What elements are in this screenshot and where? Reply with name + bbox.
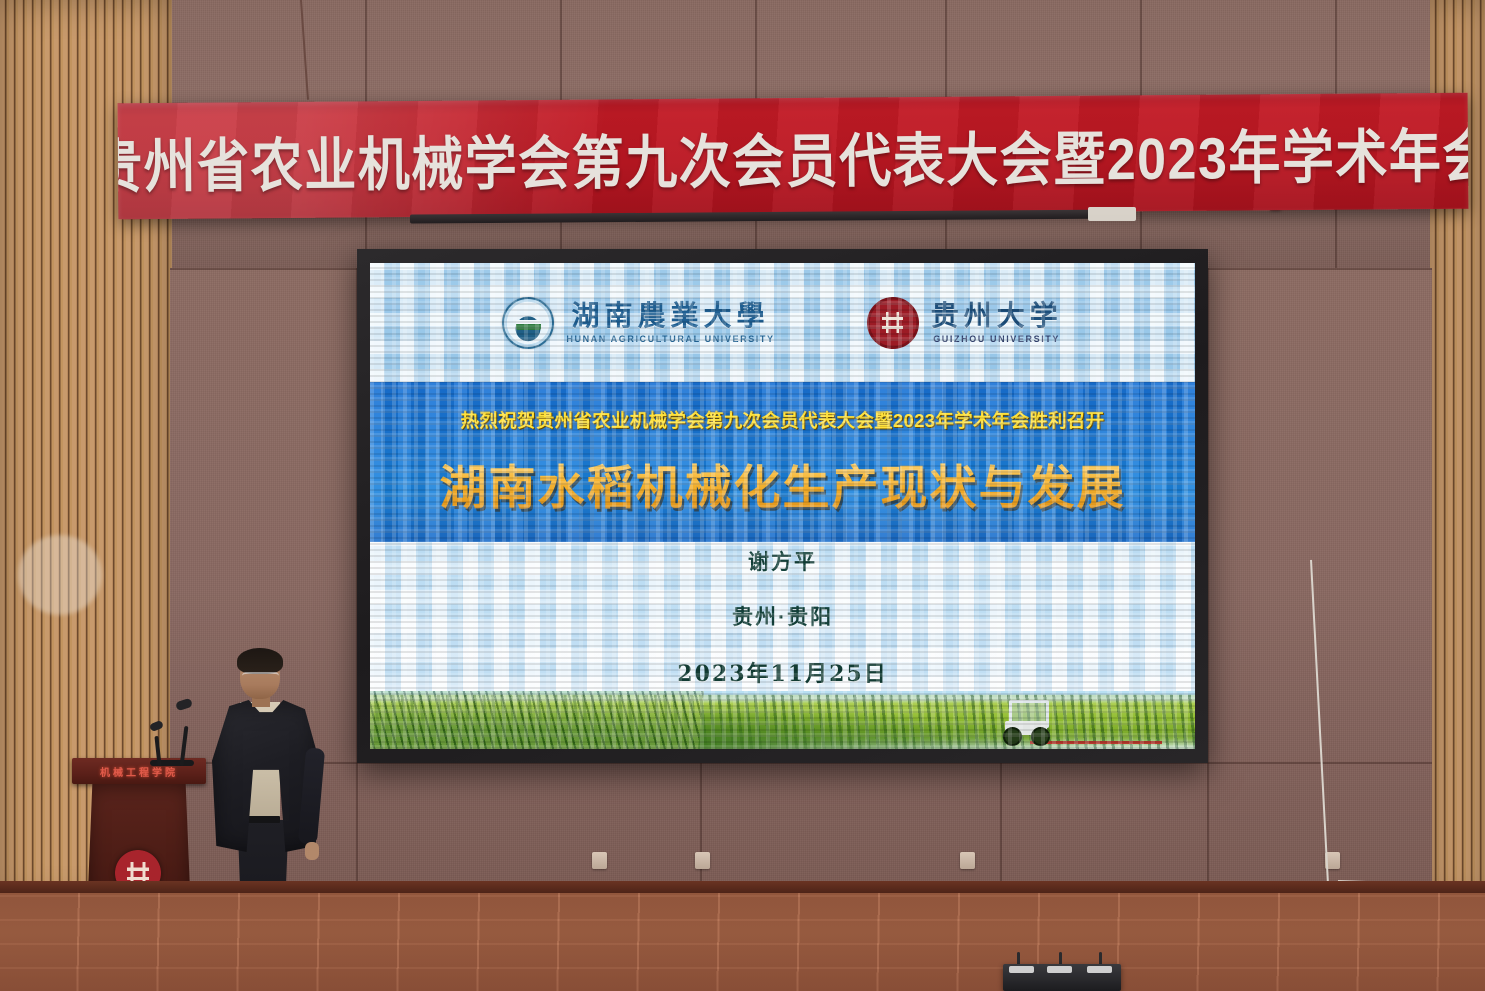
field-furrows: [370, 691, 703, 749]
conference-banner: 贵州省农业机械学会第九次会员代表大会暨2023年学术年会: [118, 93, 1469, 220]
logo-name-cn: 贵州大学: [931, 302, 1063, 330]
presenter-location: 贵州·贵阳: [732, 601, 833, 631]
wall-outlet[interactable]: [592, 852, 607, 869]
wall-outlet[interactable]: [695, 852, 710, 869]
presentation-date: 2023年11月25日: [677, 656, 887, 688]
glasses-icon: [242, 672, 279, 682]
slide-subtitle: 热烈祝贺贵州省农业机械学会第九次会员代表大会暨2023年学术年会胜利召开: [461, 407, 1105, 433]
led-screen-bezel: 湖南農業大學 HUNAN AGRICULTURAL UNIVERSITY 贵州大…: [357, 249, 1208, 763]
logo-name-en: HUNAN AGRICULTURAL UNIVERSITY: [566, 335, 774, 344]
slide-field-photo: 绿色农田与喷药拖拉机: [370, 691, 1195, 749]
tractor-icon: [1001, 700, 1055, 746]
wall-scuff: [18, 535, 102, 615]
wall-outlet[interactable]: [960, 852, 975, 869]
speaker-hand: [305, 842, 319, 860]
podium-sign-text: 机械工程学院: [86, 764, 192, 779]
wireless-receiver[interactable]: 无线接收器: [1003, 952, 1121, 991]
slide-presenter-block: 谢方平 贵州·贵阳 2023年11月25日: [370, 542, 1195, 690]
conference-hall-scene: 贵州省农业机械学会第九次会员代表大会暨2023年学术年会 湖南農業大學 HUNA…: [0, 0, 1485, 991]
hunan-agricultural-university-seal-icon: [502, 297, 554, 349]
logo-name-en: GUIZHOU UNIVERSITY: [933, 335, 1060, 344]
slide-title-band: 热烈祝贺贵州省农业机械学会第九次会员代表大会暨2023年学术年会胜利召开 湖南水…: [370, 382, 1195, 542]
guizhou-university-seal-icon: [867, 297, 919, 349]
banner-text: 贵州省农业机械学会第九次会员代表大会暨2023年学术年会: [118, 108, 1469, 203]
logo-hunan-agricultural-university: 湖南農業大學 HUNAN AGRICULTURAL UNIVERSITY: [502, 297, 774, 349]
logo-name-cn: 湖南農業大學: [571, 302, 769, 330]
presentation-slide[interactable]: 湖南農業大學 HUNAN AGRICULTURAL UNIVERSITY 贵州大…: [370, 263, 1195, 749]
slide-logo-row: 湖南農業大學 HUNAN AGRICULTURAL UNIVERSITY 贵州大…: [370, 263, 1195, 382]
wooden-floor: [0, 893, 1485, 991]
slide-title: 湖南水稻机械化生产现状与发展: [440, 449, 1126, 518]
rail-bracket: [1088, 207, 1136, 221]
speaker-hair: [237, 648, 283, 674]
presenter-name: 谢方平: [748, 546, 817, 576]
baseboard: [0, 881, 1485, 893]
logo-guizhou-university: 贵州大学 GUIZHOU UNIVERSITY: [867, 297, 1063, 349]
